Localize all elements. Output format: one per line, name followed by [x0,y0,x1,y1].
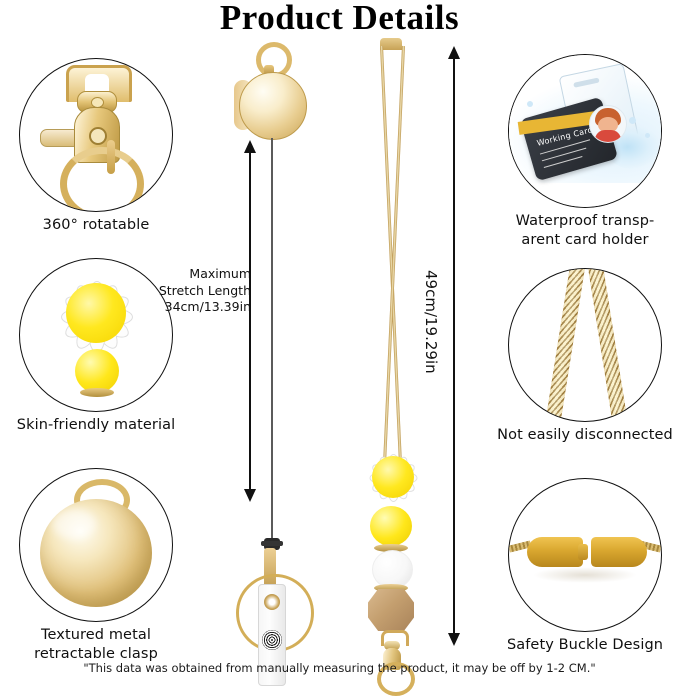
feature-rotatable-clasp: 360° rotatable [6,58,186,235]
metal-illustration [34,479,158,611]
feature-not-disconnected: Not easily disconnected [495,268,675,445]
lanyard-top-cap-icon [380,38,402,50]
avatar [589,105,627,143]
reel-disc-icon [239,72,307,140]
avatar-body [595,130,621,143]
feature-waterproof-holder: Working Card Waterproof transp- arent ca… [495,54,675,250]
metal-disc-icon [40,499,152,607]
clasp-hook-icon [60,147,144,212]
stretch-length-label: Maximum Stretch Length 34cm/13.39in [155,266,251,316]
arrow-shaft [453,54,455,638]
buckle-shadow [533,567,637,583]
yellow-bead-icon [75,349,119,393]
braided-cord-icon [587,268,630,422]
feature-caption-not-disconnected: Not easily disconnected [495,426,675,445]
stretch-length-dimension-arrow [243,140,257,502]
feature-caption-waterproof: Waterproof transp- arent card holder [495,212,675,250]
caption-line-2: arent card holder [495,231,675,250]
wooden-hex-bead-icon [368,589,414,631]
feature-caption-safety-buckle: Safety Buckle Design [495,636,675,655]
arrow-shaft [249,148,251,494]
daisy-illustration [36,275,156,399]
card-line [542,148,587,162]
buckle-half-right-icon [591,537,647,567]
buckle-illustration [509,479,661,631]
lanyard-lobster-clasp-icon [372,630,412,688]
caption-line-1: Textured metal [6,626,186,645]
feature-caption-rotatable: 360° rotatable [6,216,186,235]
water-drop-icon [645,133,650,138]
daisy-center-icon [66,283,126,343]
page-title: Product Details [0,0,679,38]
clip-rivet-top-icon [264,594,280,610]
yellow-bead-icon [370,506,412,546]
metal-disc-photo [19,468,173,622]
avatar-hair [595,108,621,126]
measurement-disclaimer: "This data was obtained from manually me… [0,661,679,675]
daisy-bead-photo [19,258,173,412]
lanyard-daisy-icon [354,450,430,506]
stretch-label-line-2: Stretch Length [155,283,251,300]
feature-textured-metal: Textured metal retractable clasp [6,468,186,664]
clasp-illustration [44,65,148,209]
card-holder-photo: Working Card [508,54,662,208]
clip-rivet-bottom-icon [262,630,282,650]
braided-cord-photo [508,268,662,422]
buckle-half-left-icon [527,537,583,567]
lanyard-length-label: 49cm/19.29in [422,270,440,374]
lanyard-illustration [340,38,460,658]
daisy-center-icon [372,456,414,498]
braided-cord-icon [543,268,586,422]
bead-ring-icon [80,388,114,397]
swivel-clasp-photo [19,58,173,212]
lanyard-cord-right [383,46,405,464]
water-drop-icon [629,117,636,124]
clasp-rivet-icon [89,127,107,145]
arrow-head-down [448,633,460,646]
feature-safety-buckle: Safety Buckle Design [495,478,675,655]
lanyard-length-dimension-arrow [447,46,461,646]
arrow-head-down [244,489,256,502]
retractable-badge-reel-illustration [222,42,318,654]
feature-caption-textured-metal: Textured metal retractable clasp [6,626,186,664]
feature-caption-skin-friendly: Skin-friendly material [6,416,186,435]
water-drop-icon [527,101,533,107]
card-holder-illustration: Working Card [509,55,661,207]
stretch-label-line-1: Maximum [155,266,251,283]
reel-cord-line [271,138,273,542]
breakaway-buckle-photo [508,478,662,632]
product-details-infographic: Product Details 360° rotatable [0,0,679,680]
caption-line-1: Waterproof transp- [495,212,675,231]
cord-illustration [509,269,661,421]
stretch-label-line-3: 34cm/13.39in [155,299,251,316]
